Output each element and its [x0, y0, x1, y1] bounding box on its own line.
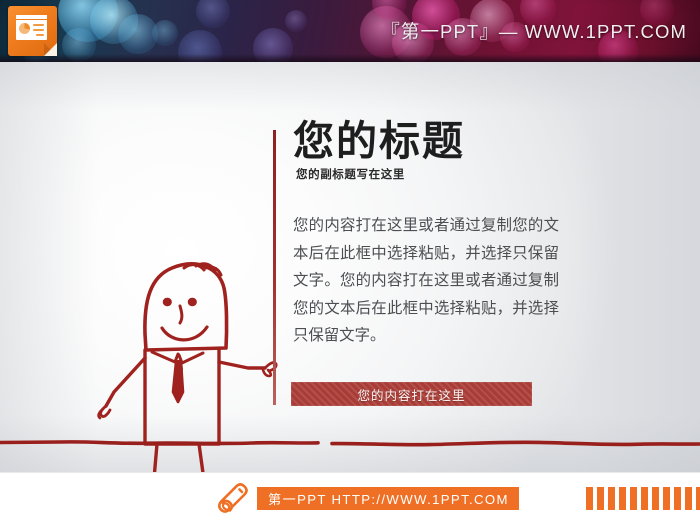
body-paragraph: 您的内容打在这里或者通过复制您的文本后在此框中选择粘贴，并选择只保留文字。您的内…	[293, 212, 559, 350]
title-block: 您的标题 您的副标题写在这里	[293, 120, 593, 182]
icon-text-line	[36, 34, 44, 36]
footer-stripe	[619, 487, 626, 510]
footer-stripe	[608, 487, 615, 510]
icon-text-line	[33, 29, 44, 31]
site-brand-text: 『第一PPT』— WWW.1PPT.COM	[381, 18, 687, 44]
footer-stripe	[586, 487, 593, 510]
footer-stripe	[630, 487, 637, 510]
footer-stripe-decoration	[586, 487, 700, 510]
footer-url-bar[interactable]: 第一PPT HTTP://WWW.1PPT.COM	[257, 487, 519, 510]
footer-stripe	[652, 487, 659, 510]
icon-page-fold	[44, 43, 57, 56]
footer-stripe	[685, 487, 692, 510]
footer-stripe	[674, 487, 681, 510]
page-subtitle: 您的副标题写在这里	[296, 166, 593, 182]
footer-stripe	[597, 487, 604, 510]
icon-slide-card	[16, 15, 47, 40]
content-banner[interactable]: 您的内容打在这里	[291, 382, 532, 406]
footer-stripe	[663, 487, 670, 510]
site-header-banner: 『第一PPT』— WWW.1PPT.COM	[0, 0, 700, 62]
vertical-accent-rule	[273, 130, 276, 405]
footer-divider	[0, 472, 700, 473]
content-banner-label: 您的内容打在这里	[357, 385, 465, 404]
icon-slide-titlebar	[16, 15, 47, 20]
pen-icon	[218, 482, 252, 516]
slide-screenshot: 『第一PPT』— WWW.1PPT.COM	[0, 0, 700, 525]
icon-text-line	[33, 24, 44, 26]
footer-url-text: 第一PPT HTTP://WWW.1PPT.COM	[268, 489, 509, 508]
slide-canvas: 您的标题 您的副标题写在这里 您的内容打在这里或者通过复制您的文本后在此框中选择…	[0, 62, 700, 472]
powerpoint-document-icon	[8, 6, 57, 56]
icon-pie-chart	[19, 23, 30, 34]
footer-stripe	[641, 487, 648, 510]
header-bottom-fade	[0, 54, 700, 62]
footer-stripe	[696, 487, 700, 510]
site-footer: 第一PPT HTTP://WWW.1PPT.COM	[0, 472, 700, 525]
page-title: 您的标题	[293, 120, 593, 163]
